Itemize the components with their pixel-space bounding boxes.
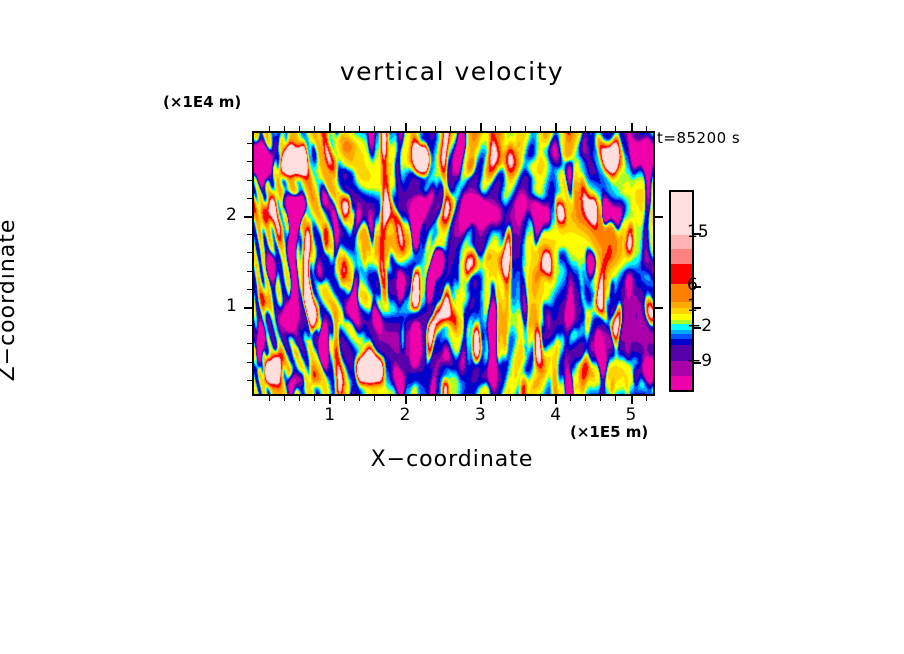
vertical-velocity-field xyxy=(254,133,653,394)
x-axis-title: X−coordinate xyxy=(252,447,652,472)
x-tick-minor-bottom xyxy=(495,394,496,401)
y-tick-minor xyxy=(247,362,254,363)
x-tick-minor-bottom xyxy=(344,394,345,401)
x-tick-minor-bottom xyxy=(646,394,647,401)
x-tick-minor-top xyxy=(299,126,300,133)
timestamp-annotation: t=85200 s xyxy=(657,129,740,147)
y-axis-title: Z−coordinate xyxy=(0,180,20,420)
x-axis-units-label: (×1E5 m) xyxy=(570,423,648,441)
x-tick-label: 2 xyxy=(400,405,411,425)
y-tick-minor xyxy=(247,289,254,290)
x-tick-minor-top xyxy=(269,126,270,133)
x-tick-minor-top xyxy=(390,126,391,133)
x-tick-minor-top xyxy=(420,126,421,133)
x-tick-minor-bottom xyxy=(600,394,601,401)
y-tick-minor xyxy=(247,161,254,162)
y-tick-major-right xyxy=(653,307,663,309)
x-tick-minor-top xyxy=(525,126,526,133)
y-tick-label: 2 xyxy=(226,205,237,225)
y-tick-minor xyxy=(247,252,254,253)
x-tick-minor-bottom xyxy=(299,394,300,401)
colorbar-tick-label: −9 xyxy=(687,351,712,371)
y-tick-minor xyxy=(247,198,254,199)
y-tick-major xyxy=(244,307,254,309)
x-tick-minor-top xyxy=(615,126,616,133)
x-tick-minor-bottom xyxy=(570,394,571,401)
x-tick-minor-top xyxy=(465,126,466,133)
x-tick-minor-bottom xyxy=(374,394,375,401)
y-tick-minor xyxy=(247,343,254,344)
x-tick-minor-bottom xyxy=(390,394,391,401)
x-tick-minor-bottom xyxy=(314,394,315,401)
colorbar-tick-label: 6 xyxy=(687,275,698,295)
y-tick-minor xyxy=(247,271,254,272)
x-tick-major-top xyxy=(555,123,557,133)
y-axis-units-label: (×1E4 m) xyxy=(163,93,241,111)
x-tick-minor-bottom xyxy=(420,394,421,401)
x-tick-major-top xyxy=(631,123,633,133)
x-tick-minor-bottom xyxy=(435,394,436,401)
y-tick-major-right xyxy=(653,216,663,218)
x-tick-major xyxy=(631,394,633,404)
colorbar-tick-label: −2 xyxy=(687,316,712,336)
x-tick-minor-top xyxy=(495,126,496,133)
x-tick-minor-top xyxy=(510,126,511,133)
y-tick-minor xyxy=(247,325,254,326)
colorbar-band xyxy=(671,376,692,390)
x-tick-minor-top xyxy=(570,126,571,133)
x-tick-minor-bottom xyxy=(269,394,270,401)
x-tick-minor-top xyxy=(585,126,586,133)
x-tick-minor-top xyxy=(284,126,285,133)
y-tick-minor xyxy=(247,380,254,381)
x-tick-label: 4 xyxy=(550,405,561,425)
x-tick-minor-top xyxy=(314,126,315,133)
y-tick-minor xyxy=(247,143,254,144)
colorbar-tick-label: 1 xyxy=(687,296,698,316)
contour-plot-area xyxy=(252,131,655,396)
colorbar-tick-label: 15 xyxy=(687,222,709,242)
x-tick-minor-bottom xyxy=(585,394,586,401)
colorbar-band xyxy=(671,249,692,264)
x-tick-label: 5 xyxy=(626,405,637,425)
x-tick-major-top xyxy=(405,123,407,133)
x-tick-minor-top xyxy=(374,126,375,133)
x-tick-major xyxy=(405,394,407,404)
y-tick-label: 1 xyxy=(226,296,237,316)
x-tick-minor-bottom xyxy=(615,394,616,401)
x-tick-minor-bottom xyxy=(284,394,285,401)
y-tick-minor xyxy=(247,234,254,235)
page-title: vertical velocity xyxy=(0,57,904,86)
x-tick-minor-bottom xyxy=(540,394,541,401)
x-tick-minor-top xyxy=(646,126,647,133)
x-tick-major xyxy=(480,394,482,404)
x-tick-minor-top xyxy=(435,126,436,133)
x-tick-minor-bottom xyxy=(465,394,466,401)
x-tick-minor-top xyxy=(344,126,345,133)
x-tick-major xyxy=(329,394,331,404)
x-tick-minor-top xyxy=(600,126,601,133)
x-tick-minor-top xyxy=(540,126,541,133)
x-tick-minor-top xyxy=(359,126,360,133)
figure-canvas: vertical velocity (×1E4 m) t=85200 s Z−c… xyxy=(0,0,904,654)
x-tick-minor-bottom xyxy=(450,394,451,401)
x-tick-label: 1 xyxy=(324,405,335,425)
x-tick-label: 3 xyxy=(475,405,486,425)
x-tick-minor-bottom xyxy=(359,394,360,401)
x-tick-major xyxy=(555,394,557,404)
x-tick-minor-top xyxy=(450,126,451,133)
x-tick-major-top xyxy=(329,123,331,133)
y-tick-minor xyxy=(247,180,254,181)
y-tick-major xyxy=(244,216,254,218)
x-tick-major-top xyxy=(480,123,482,133)
x-tick-minor-bottom xyxy=(510,394,511,401)
x-tick-minor-bottom xyxy=(525,394,526,401)
